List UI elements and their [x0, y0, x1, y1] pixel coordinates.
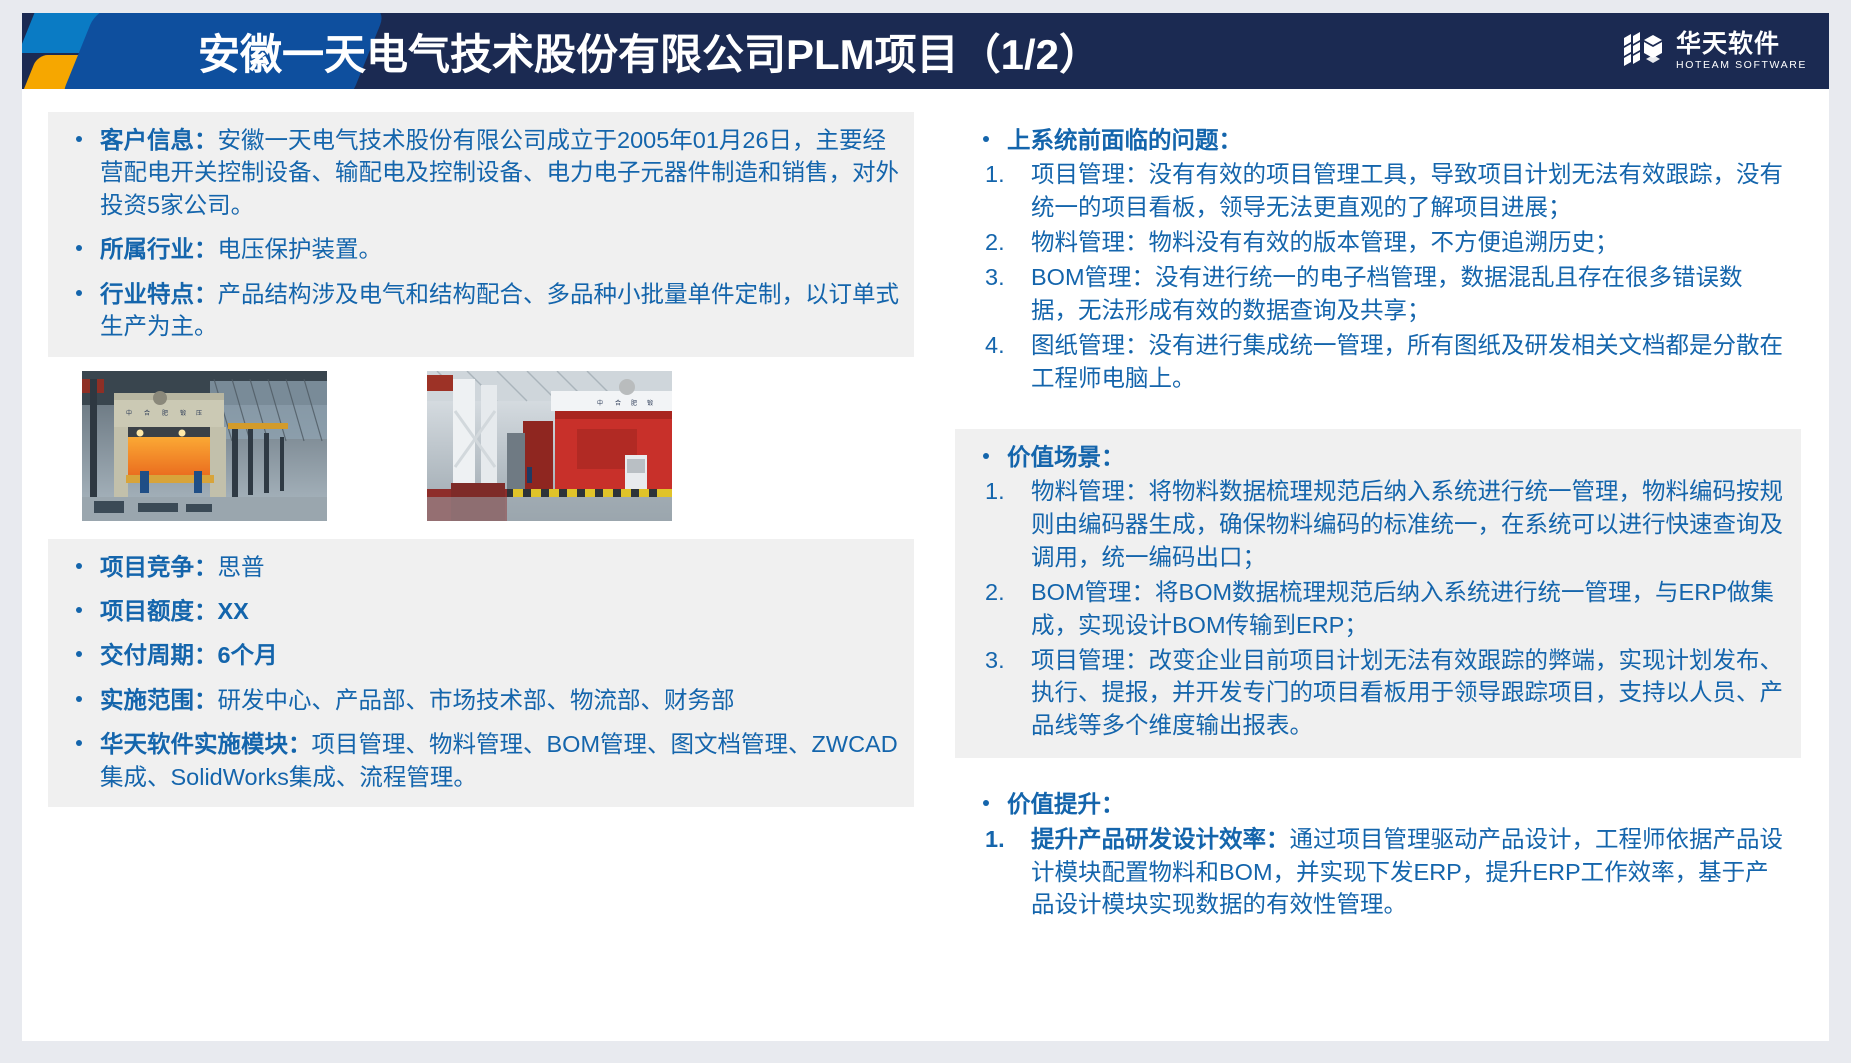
problems-panel: 上系统前面临的问题： 1. 项目管理：没有有效的项目管理工具，导致项目计划无法有…: [955, 112, 1801, 411]
page-title: 安徽一天电气技术股份有限公司PLM项目（1/2）: [198, 13, 1101, 89]
bullet-dot-icon: [76, 696, 82, 702]
value-uplift-list: 1. 提升产品研发设计效率：通过项目管理驱动产品设计，工程师依据产品设计模块配置…: [969, 823, 1787, 922]
project-details-list: 项目竞争：思普 项目额度：XX 交付周期：6个月 实施范围：研发中心、产品部、市…: [62, 551, 900, 794]
brand-logo: 华天软件 HOTEAM SOFTWARE: [1622, 13, 1807, 89]
left-column: 客户信息：安徽一天电气技术股份有限公司成立于2005年01月26日，主要经营配电…: [48, 112, 914, 807]
svg-text:压: 压: [196, 410, 202, 417]
list-item-label: 行业特点：: [100, 281, 218, 307]
svg-text:肥: 肥: [162, 410, 168, 417]
list-item: 4. 图纸管理：没有进行集成统一管理，所有图纸及研发相关文档都是分散在工程师电脑…: [969, 329, 1787, 395]
spacer: [955, 411, 1801, 429]
list-item-number: 4.: [985, 329, 1019, 362]
list-item-text: 物料管理：物料没有有效的版本管理，不方便追溯历史；: [1031, 229, 1619, 255]
spacer: [955, 758, 1801, 776]
list-item-label: 华天软件实施模块：: [100, 731, 312, 757]
bullet-dot-icon: [76, 563, 82, 569]
bullet-dot-icon: [76, 290, 82, 296]
hoteam-cube-icon: [1622, 30, 1666, 72]
section-heading: 价值场景：: [969, 441, 1787, 473]
brand-logo-text: 华天软件 HOTEAM SOFTWARE: [1676, 32, 1807, 71]
svg-text:锻: 锻: [647, 399, 653, 407]
svg-text:中: 中: [126, 409, 132, 417]
list-item: 交付周期：6个月: [62, 639, 900, 671]
customer-info-list: 客户信息：安徽一天电气技术股份有限公司成立于2005年01月26日，主要经营配电…: [62, 124, 900, 343]
list-item-number: 2.: [985, 226, 1019, 259]
brand-name-cn: 华天软件: [1676, 32, 1807, 57]
list-item-number: 2.: [985, 576, 1019, 609]
bullet-dot-icon: [76, 607, 82, 613]
list-item-text: 安徽一天电气技术股份有限公司成立于2005年01月26日，主要经营配电开关控制设…: [100, 127, 899, 218]
list-item-number: 3.: [985, 644, 1019, 677]
list-item-text: 思普: [218, 554, 265, 580]
svg-text:锻: 锻: [180, 409, 186, 417]
section-heading-text: 价值提升：: [1007, 791, 1125, 817]
list-item-text: 研发中心、产品部、市场技术部、物流部、财务部: [218, 687, 735, 713]
list-item-text: 图纸管理：没有进行集成统一管理，所有图纸及研发相关文档都是分散在工程师电脑上。: [1031, 332, 1783, 391]
bullet-dot-icon: [76, 651, 82, 657]
list-item: 客户信息：安徽一天电气技术股份有限公司成立于2005年01月26日，主要经营配电…: [62, 124, 900, 221]
svg-text:合: 合: [144, 409, 150, 417]
list-item: 所属行业：电压保护装置。: [62, 233, 900, 265]
slide-header: 安徽一天电气技术股份有限公司PLM项目（1/2）: [22, 13, 1829, 89]
section-heading-text: 上系统前面临的问题：: [1007, 127, 1242, 153]
list-item: 1. 提升产品研发设计效率：通过项目管理驱动产品设计，工程师依据产品设计模块配置…: [969, 823, 1787, 922]
list-item-label: 项目竞争：: [100, 554, 218, 580]
bullet-dot-icon: [76, 740, 82, 746]
list-item-label: 实施范围：: [100, 687, 218, 713]
svg-text:合: 合: [615, 399, 621, 407]
value-scenarios-panel: 价值场景： 1. 物料管理：将物料数据梳理规范后纳入系统进行统一管理，物料编码按…: [955, 429, 1801, 759]
list-item-text: 项目管理：改变企业目前项目计划无法有效跟踪的弊端，实现计划发布、执行、提报，并开…: [1031, 647, 1783, 739]
customer-info-panel: 客户信息：安徽一天电气技术股份有限公司成立于2005年01月26日，主要经营配电…: [48, 112, 914, 357]
list-item-label: 交付周期：: [100, 642, 218, 668]
list-item-text: BOM管理：没有进行统一的电子档管理，数据混乱且存在很多错误数据，无法形成有效的…: [1031, 264, 1743, 323]
list-item-text: 电压保护装置。: [218, 236, 383, 262]
list-item-number: 3.: [985, 261, 1019, 294]
bullet-dot-icon: [983, 136, 989, 142]
list-item-label: 项目额度：: [100, 598, 218, 624]
list-item-number: 1.: [985, 475, 1019, 508]
list-item-text: XX: [218, 598, 249, 624]
list-item: 1. 物料管理：将物料数据梳理规范后纳入系统进行统一管理，物料编码按规则由编码器…: [969, 475, 1787, 574]
list-item-number: 1.: [985, 823, 1019, 856]
list-item-text: 6个月: [218, 642, 278, 668]
spacer: [48, 521, 914, 539]
list-item-text: 物料管理：将物料数据梳理规范后纳入系统进行统一管理，物料编码按规则由编码器生成，…: [1031, 478, 1783, 570]
slide-root: 安徽一天电气技术股份有限公司PLM项目（1/2）: [0, 0, 1851, 1063]
list-item: 项目竞争：思普: [62, 551, 900, 583]
list-item: 2. BOM管理：将BOM数据梳理规范后纳入系统进行统一管理，与ERP做集成，实…: [969, 576, 1787, 642]
factory-photo-gallery: 中合 肥锻压: [82, 371, 914, 521]
list-item: 3. 项目管理：改变企业目前项目计划无法有效跟踪的弊端，实现计划发布、执行、提报…: [969, 644, 1787, 743]
list-item-number: 1.: [985, 158, 1019, 191]
brand-name-en: HOTEAM SOFTWARE: [1676, 60, 1807, 71]
list-item: 项目额度：XX: [62, 595, 900, 627]
section-heading: 价值提升：: [969, 788, 1787, 820]
list-item: 1. 项目管理：没有有效的项目管理工具，导致项目计划无法有效跟踪，没有统一的项目…: [969, 158, 1787, 224]
bullet-dot-icon: [76, 136, 82, 142]
list-item-label: 提升产品研发设计效率：: [1031, 826, 1290, 852]
svg-text:中: 中: [597, 399, 603, 407]
value-scenarios-list: 1. 物料管理：将物料数据梳理规范后纳入系统进行统一管理，物料编码按规则由编码器…: [969, 475, 1787, 742]
bullet-dot-icon: [983, 800, 989, 806]
bullet-dot-icon: [76, 245, 82, 251]
factory-red-press-photo: 中合肥锻: [427, 371, 672, 521]
list-item-label: 客户信息：: [100, 127, 218, 153]
list-item: 华天软件实施模块：项目管理、物料管理、BOM管理、图文档管理、ZWCAD集成、S…: [62, 728, 900, 793]
section-heading-text: 价值场景：: [1007, 444, 1125, 470]
list-item: 实施范围：研发中心、产品部、市场技术部、物流部、财务部: [62, 684, 900, 716]
factory-press-line-photo: 中合 肥锻压: [82, 371, 327, 521]
section-heading: 上系统前面临的问题：: [969, 124, 1787, 156]
bullet-dot-icon: [983, 453, 989, 459]
list-item-text: BOM管理：将BOM数据梳理规范后纳入系统进行统一管理，与ERP做集成，实现设计…: [1031, 579, 1774, 638]
list-item-text: 项目管理：没有有效的项目管理工具，导致项目计划无法有效跟踪，没有统一的项目看板，…: [1031, 161, 1783, 220]
list-item: 2. 物料管理：物料没有有效的版本管理，不方便追溯历史；: [969, 226, 1787, 259]
value-uplift-panel: 价值提升： 1. 提升产品研发设计效率：通过项目管理驱动产品设计，工程师依据产品…: [955, 776, 1801, 937]
list-item: 行业特点：产品结构涉及电气和结构配合、多品种小批量单件定制，以订单式生产为主。: [62, 278, 900, 343]
right-column: 上系统前面临的问题： 1. 项目管理：没有有效的项目管理工具，导致项目计划无法有…: [955, 112, 1801, 937]
list-item-text: 产品结构涉及电气和结构配合、多品种小批量单件定制，以订单式生产为主。: [100, 281, 899, 339]
project-details-panel: 项目竞争：思普 项目额度：XX 交付周期：6个月 实施范围：研发中心、产品部、市…: [48, 539, 914, 808]
list-item-label: 所属行业：: [100, 236, 218, 262]
svg-text:肥: 肥: [631, 400, 637, 407]
problems-list: 1. 项目管理：没有有效的项目管理工具，导致项目计划无法有效跟踪，没有统一的项目…: [969, 158, 1787, 394]
list-item: 3. BOM管理：没有进行统一的电子档管理，数据混乱且存在很多错误数据，无法形成…: [969, 261, 1787, 327]
